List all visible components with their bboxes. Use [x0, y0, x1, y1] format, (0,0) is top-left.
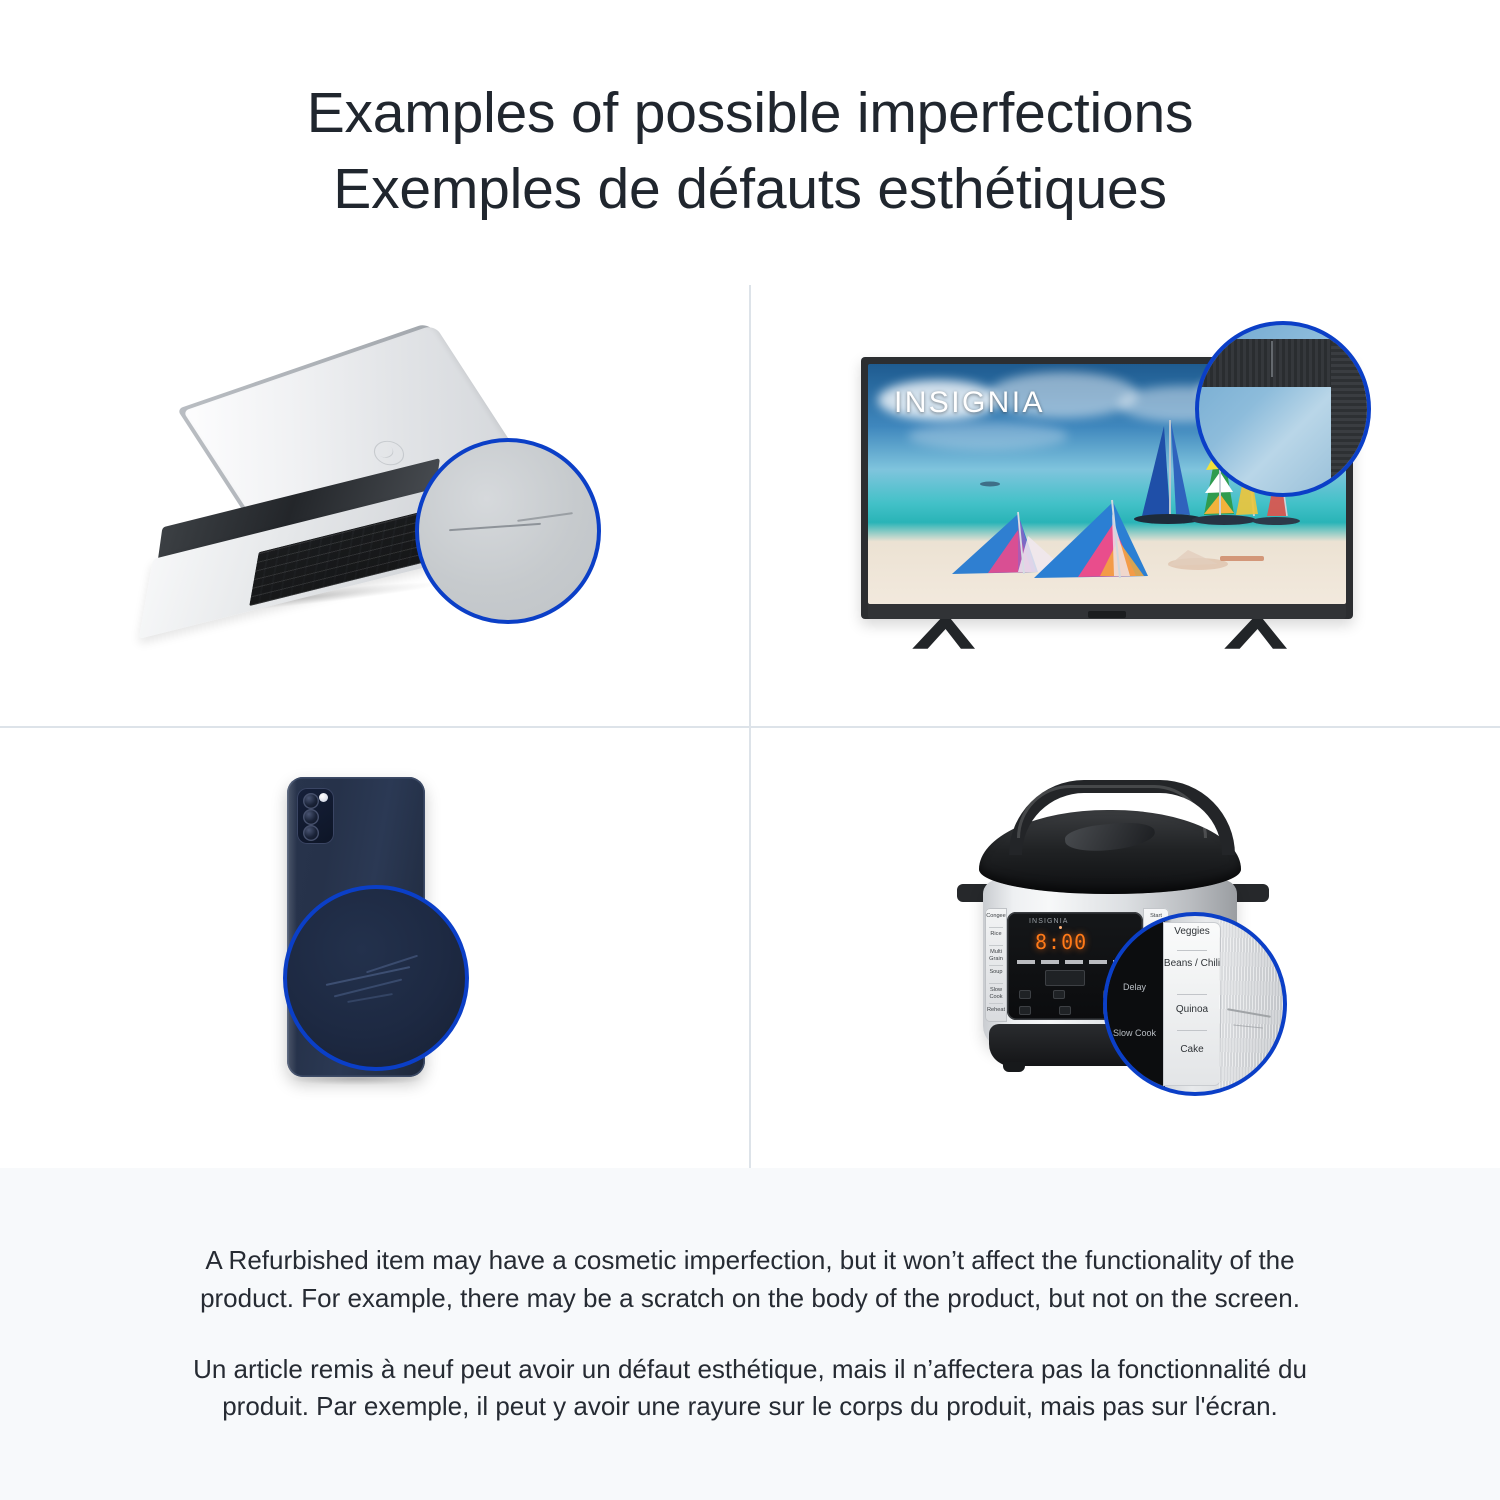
cooker-pressure-button[interactable]	[1045, 970, 1085, 986]
example-cell-pressure-cooker: Congee Rice Multi Grain Soup Slow Cook R…	[750, 727, 1500, 1169]
cooker-key-multigrain[interactable]: Multi Grain	[985, 949, 1007, 962]
cooker-panel-zoomed: Delay Slow Cook	[1107, 916, 1165, 1092]
phone-illustration	[225, 767, 525, 1127]
laptop-illustration	[115, 346, 635, 666]
cooker-illustration: Congee Rice Multi Grain Soup Slow Cook R…	[945, 772, 1305, 1122]
refurbished-imperfections-page: Examples of possible imperfections Exemp…	[0, 0, 1500, 1500]
cooker-brand-label: INSIGNIA	[1029, 918, 1069, 925]
page-title-fr: Exemples de défauts esthétiques	[333, 152, 1167, 228]
cooker-zoom-label-slowcook: Slow Cook	[1113, 1028, 1156, 1038]
footer-description: A Refurbished item may have a cosmetic i…	[0, 1168, 1500, 1500]
tv-leg-right	[1223, 619, 1287, 649]
cooker-keepwarm-button[interactable]	[1053, 990, 1065, 999]
cooker-zoom-key-cake[interactable]: Cake	[1163, 1044, 1221, 1055]
cooker-steam-button[interactable]	[1059, 1006, 1071, 1015]
magnifier-tv-bezel	[1195, 321, 1371, 497]
cooker-zoom-label-delay: Delay	[1123, 982, 1146, 992]
cooker-display-value: 8:00	[1035, 930, 1087, 954]
cooker-saute-button[interactable]	[1019, 1006, 1031, 1015]
cooker-key-rice[interactable]: Rice	[985, 931, 1007, 937]
cooker-key-reheat[interactable]: Reheat	[985, 1007, 1007, 1013]
cooker-key-congee[interactable]: Congee	[985, 913, 1007, 919]
cooker-key-slowcook[interactable]: Slow Cook	[985, 987, 1007, 1000]
cooker-foot-left	[1003, 1062, 1025, 1072]
example-cell-laptop	[0, 285, 750, 727]
magnifier-phone-scratch	[283, 885, 469, 1071]
laptop-brand-logo-icon	[367, 435, 410, 469]
cooker-zoom-key-veggies[interactable]: Veggies	[1163, 926, 1221, 937]
cooker-key-soup[interactable]: Soup	[985, 969, 1007, 975]
cooker-zoom-key-quinoa[interactable]: Quinoa	[1163, 1004, 1221, 1015]
phone-camera-module-icon	[297, 788, 334, 844]
tv-bezel-scratch	[1271, 341, 1273, 377]
phone-flash-icon	[319, 793, 328, 802]
tv-leg-left	[911, 619, 975, 649]
cooker-status-led-icon	[1059, 926, 1062, 929]
examples-grid: INSIGNIA	[0, 285, 1500, 1168]
page-header: Examples of possible imperfections Exemp…	[0, 0, 1500, 285]
tv-bezel-right-zoomed	[1331, 339, 1371, 497]
cooker-lid-handle-highlight	[1017, 785, 1207, 838]
magnifier-cooker-scratch: Delay Slow Cook Veggies Beans / Chili Qu…	[1103, 912, 1287, 1096]
magnifier-laptop-scratch	[415, 438, 601, 624]
tv-bottom-bezel	[868, 604, 1346, 619]
example-cell-phone	[0, 727, 750, 1169]
tv-ir-sensor-icon	[1088, 611, 1126, 618]
description-paragraph-en: A Refurbished item may have a cosmetic i…	[185, 1242, 1315, 1317]
cooker-keys-zoomed[interactable]: Veggies Beans / Chili Quinoa Cake	[1163, 922, 1221, 1086]
cooker-keys-left[interactable]: Congee Rice Multi Grain Soup Slow Cook R…	[985, 908, 1007, 1022]
example-cell-tv: INSIGNIA	[750, 285, 1500, 727]
cooker-zoom-key-beans[interactable]: Beans / Chili	[1163, 958, 1221, 969]
cooker-manual-button[interactable]	[1019, 990, 1031, 999]
description-paragraph-fr: Un article remis à neuf peut avoir un dé…	[185, 1351, 1315, 1426]
phone-edge-highlight	[287, 777, 297, 1077]
page-title-en: Examples of possible imperfections	[307, 76, 1194, 152]
cooker-brushed-steel-zoomed	[1219, 916, 1283, 1092]
tv-illustration: INSIGNIA	[845, 321, 1405, 691]
